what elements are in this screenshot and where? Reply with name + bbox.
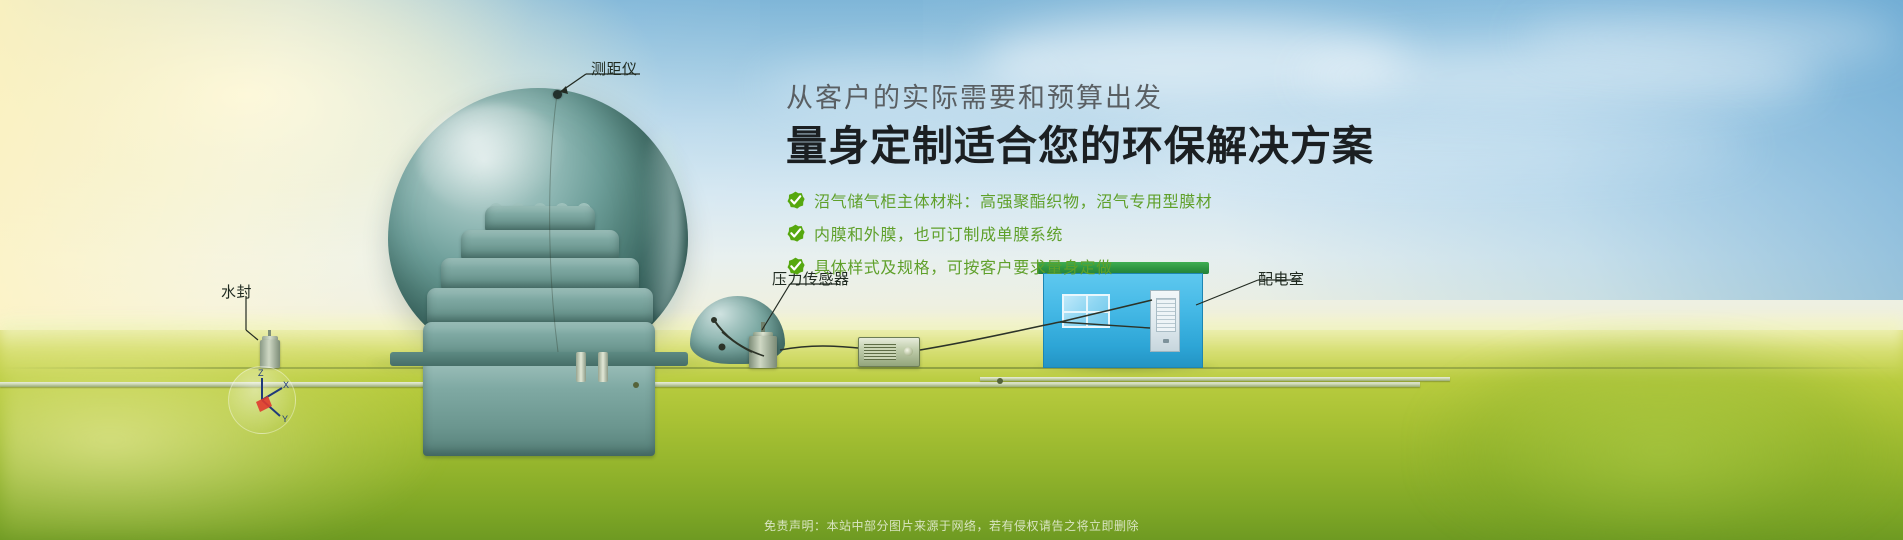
- field-light-right: [1420, 330, 1903, 540]
- main-headline: 量身定制适合您的环保解决方案: [786, 122, 1546, 170]
- control-panel-face: [1156, 298, 1176, 332]
- dome-rim-light: [642, 128, 682, 318]
- check-badge-icon: [786, 257, 805, 276]
- marketing-copy-block: 从客户的实际需要和预算出发 量身定制适合您的环保解决方案 沼气储气柜主体材料：高…: [786, 82, 1546, 287]
- dome-base-ring: [390, 352, 688, 366]
- house-wall: [1043, 273, 1203, 368]
- pipeline-secondary: [980, 377, 1450, 381]
- generator-unit: [858, 337, 920, 367]
- check-badge-icon: [786, 224, 805, 243]
- membrane-step: [423, 360, 655, 456]
- generator-knob: [904, 347, 913, 356]
- valve-post: [576, 352, 586, 382]
- label-water-seal: 水封: [221, 281, 252, 302]
- sub-headline: 从客户的实际需要和预算出发: [786, 82, 1546, 116]
- feature-bullet-text: 沼气储气柜主体材料：高强聚酯织物，沼气专用型膜材: [814, 188, 1212, 212]
- feature-bullet-text: 具体样式及规格，可按客户要求量身定做: [814, 254, 1113, 278]
- feature-bullet-item: 沼气储气柜主体材料：高强聚酯织物，沼气专用型膜材: [786, 188, 1546, 212]
- feature-bullet-text: 内膜和外膜，也可订制成单膜系统: [814, 221, 1063, 245]
- cloud-shape: [1520, 8, 1900, 66]
- gizmo-axis-z-label: Z: [258, 368, 264, 378]
- label-rangefinder: 测距仪: [591, 58, 638, 79]
- hero-banner: Z X Y 测距仪 水封 压力传感器 配电室 从客户的实际需要和预算出发 量身定…: [0, 0, 1903, 540]
- water-seal-body: [260, 340, 280, 368]
- membrane-step: [461, 230, 619, 260]
- pressure-sensor-unit: [745, 322, 781, 368]
- water-seal-unit: [258, 330, 282, 370]
- gizmo-axes: Z X Y: [228, 366, 296, 434]
- feature-bullet-item: 具体样式及规格，可按客户要求量身定做: [786, 254, 1546, 278]
- disclaimer-text: 免责声明：本站中部分图片来源于网络，若有侵权请告之将立即删除: [0, 517, 1903, 534]
- dome-inner-membrane-stack: [423, 206, 655, 456]
- control-panel-knob: [1163, 339, 1169, 343]
- gizmo-axis-x-label: X: [283, 380, 289, 390]
- membrane-step: [427, 288, 653, 324]
- feature-bullet-list: 沼气储气柜主体材料：高强聚酯织物，沼气专用型膜材 内膜和外膜，也可订制成单膜系统…: [786, 188, 1546, 278]
- pipeline-main: [0, 382, 1420, 387]
- generator-grill: [864, 344, 896, 360]
- gizmo-axis-y-label: Y: [282, 414, 288, 424]
- sensor-body: [749, 336, 777, 368]
- membrane-step: [441, 258, 639, 290]
- rangefinder-sensor-icon: [553, 90, 562, 99]
- biogas-dome: [388, 88, 688, 368]
- axis-orientation-gizmo: Z X Y: [228, 366, 296, 434]
- check-badge-icon: [786, 191, 805, 210]
- house-window: [1062, 294, 1110, 328]
- dome-highlight: [418, 104, 568, 214]
- valve-post: [598, 352, 608, 382]
- feature-bullet-item: 内膜和外膜，也可订制成单膜系统: [786, 221, 1546, 245]
- house-control-panel: [1150, 290, 1180, 352]
